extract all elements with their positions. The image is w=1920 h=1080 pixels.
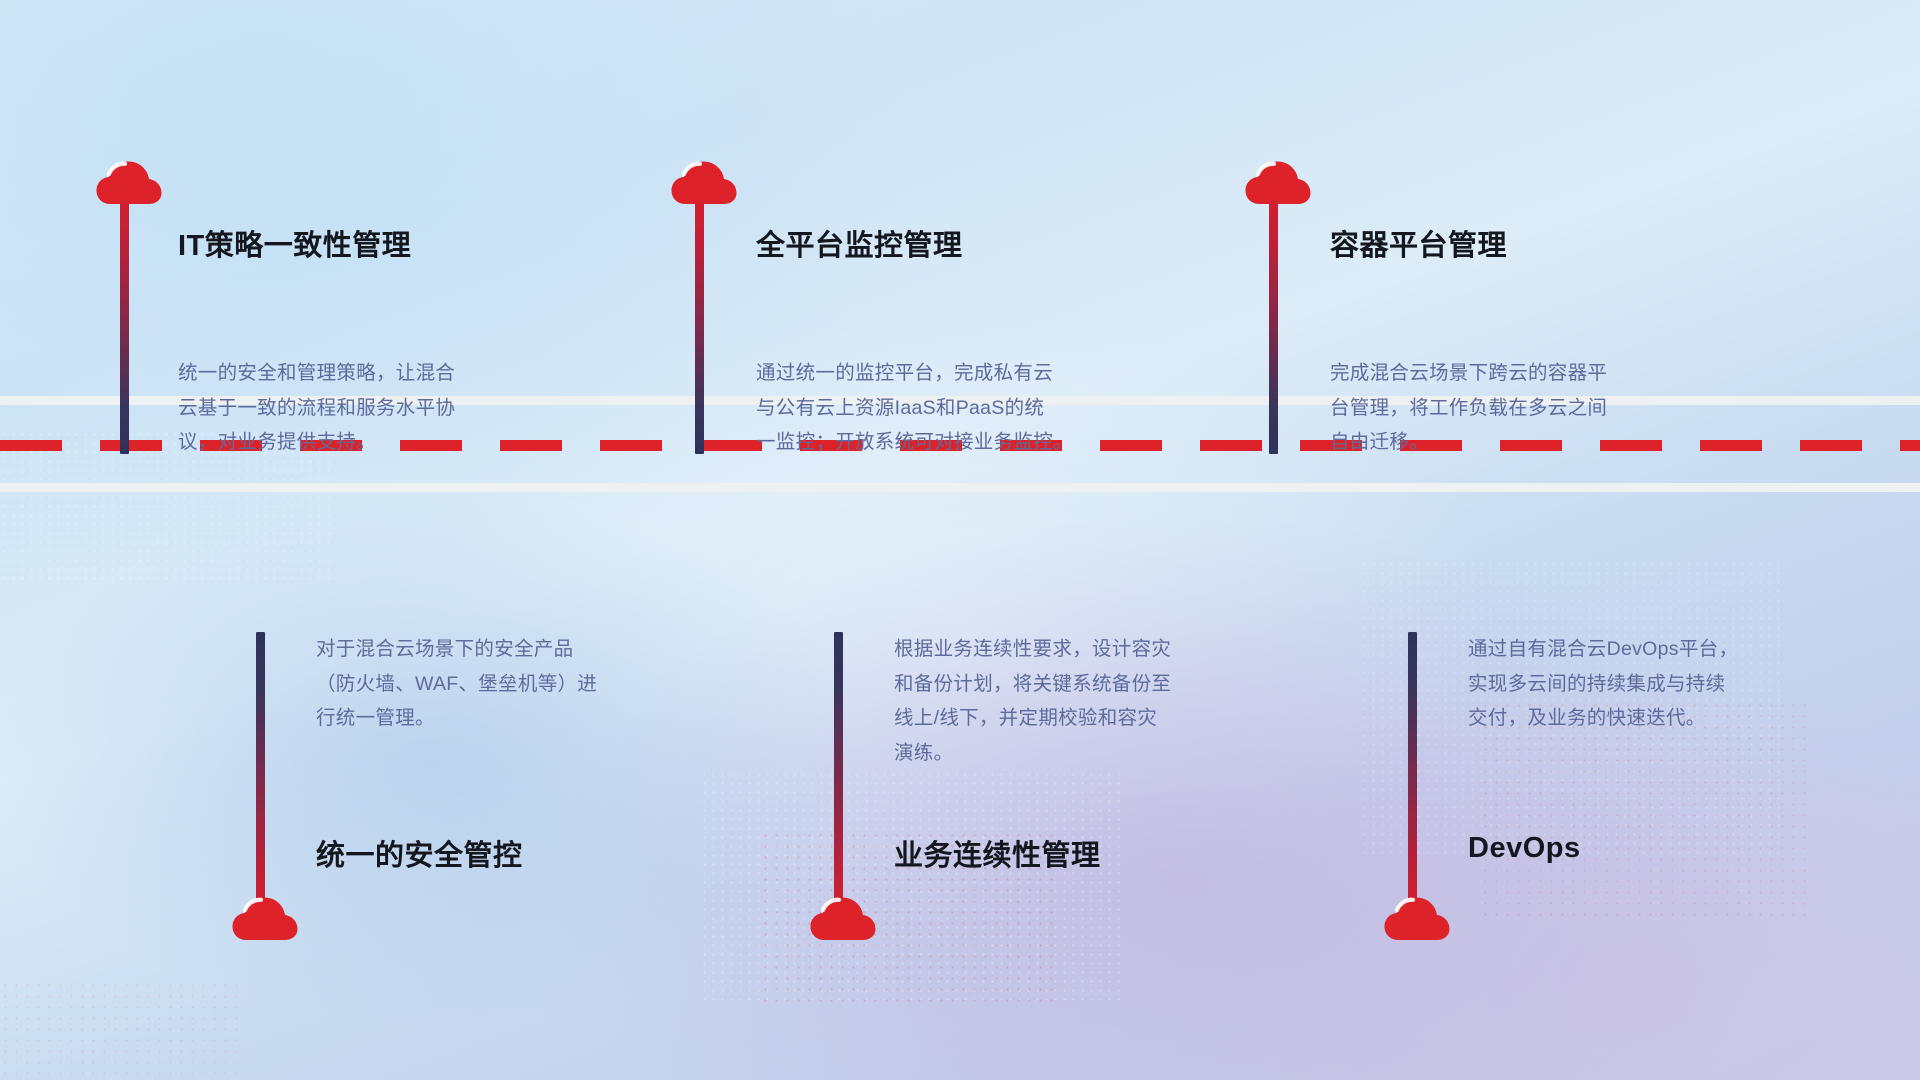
desc-line: 自由迁移。 [1330, 425, 1690, 460]
column-description: 完成混合云场景下跨云的容器平 台管理，将工作负载在多云之间 自由迁移。 [1330, 356, 1690, 460]
stem-line [256, 632, 265, 910]
stem-line [1269, 200, 1278, 454]
desc-line: 与公有云上资源IaaS和PaaS的统 [756, 391, 1116, 426]
desc-line: 通过自有混合云DevOps平台， [1468, 632, 1828, 667]
desc-line: （防火墙、WAF、堡垒机等）进 [316, 667, 676, 702]
desc-line: 台管理，将工作负载在多云之间 [1330, 391, 1690, 426]
cloud-icon [96, 160, 162, 206]
column-title: IT策略一致性管理 [178, 222, 411, 264]
desc-line: 统一的安全和管理策略，让混合 [178, 356, 538, 391]
desc-line: 对于混合云场景下的安全产品 [316, 632, 676, 667]
cloud-icon [232, 896, 298, 942]
desc-line: 行统一管理。 [316, 701, 676, 736]
column-title: 容器平台管理 [1330, 222, 1507, 264]
stem-line [834, 632, 843, 910]
desc-line: 议，对业务提供支持。 [178, 425, 538, 460]
column-title: 全平台监控管理 [756, 222, 963, 264]
column-description: 通过自有混合云DevOps平台， 实现多云间的持续集成与持续 交付，及业务的快速… [1468, 632, 1828, 736]
stem-line [695, 200, 704, 454]
stem-line [1408, 632, 1417, 910]
desc-line: 交付，及业务的快速迭代。 [1468, 701, 1828, 736]
column-description: 对于混合云场景下的安全产品 （防火墙、WAF、堡垒机等）进 行统一管理。 [316, 632, 676, 736]
column-description: 统一的安全和管理策略，让混合 云基于一致的流程和服务水平协 议，对业务提供支持。 [178, 356, 538, 460]
desc-line: 演练。 [894, 736, 1254, 771]
texture-dots-center [700, 770, 1120, 1000]
desc-line: 一监控；开放系统可对接业务监控。 [756, 425, 1116, 460]
desc-line: 完成混合云场景下跨云的容器平 [1330, 356, 1690, 391]
desc-line: 和备份计划，将关键系统备份至 [894, 667, 1254, 702]
desc-line: 线上/线下，并定期校验和容灾 [894, 701, 1254, 736]
desc-line: 云基于一致的流程和服务水平协 [178, 391, 538, 426]
cloud-icon [1384, 896, 1450, 942]
cloud-icon [671, 160, 737, 206]
column-title: 业务连续性管理 [894, 832, 1101, 874]
column-description: 通过统一的监控平台，完成私有云 与公有云上资源IaaS和PaaS的统 一监控；开… [756, 356, 1116, 460]
column-title: 统一的安全管控 [316, 832, 523, 874]
stem-line [120, 200, 129, 454]
column-description: 根据业务连续性要求，设计容灾 和备份计划，将关键系统备份至 线上/线下，并定期校… [894, 632, 1254, 771]
road-edge-bottom [0, 483, 1920, 492]
infographic-canvas: IT策略一致性管理 统一的安全和管理策略，让混合 云基于一致的流程和服务水平协 … [0, 0, 1920, 1080]
cloud-icon [810, 896, 876, 942]
desc-line: 实现多云间的持续集成与持续 [1468, 667, 1828, 702]
texture-dots-red-bottomleft [0, 980, 240, 1080]
desc-line: 根据业务连续性要求，设计容灾 [894, 632, 1254, 667]
cloud-icon [1245, 160, 1311, 206]
desc-line: 通过统一的监控平台，完成私有云 [756, 356, 1116, 391]
column-title: DevOps [1468, 832, 1581, 865]
